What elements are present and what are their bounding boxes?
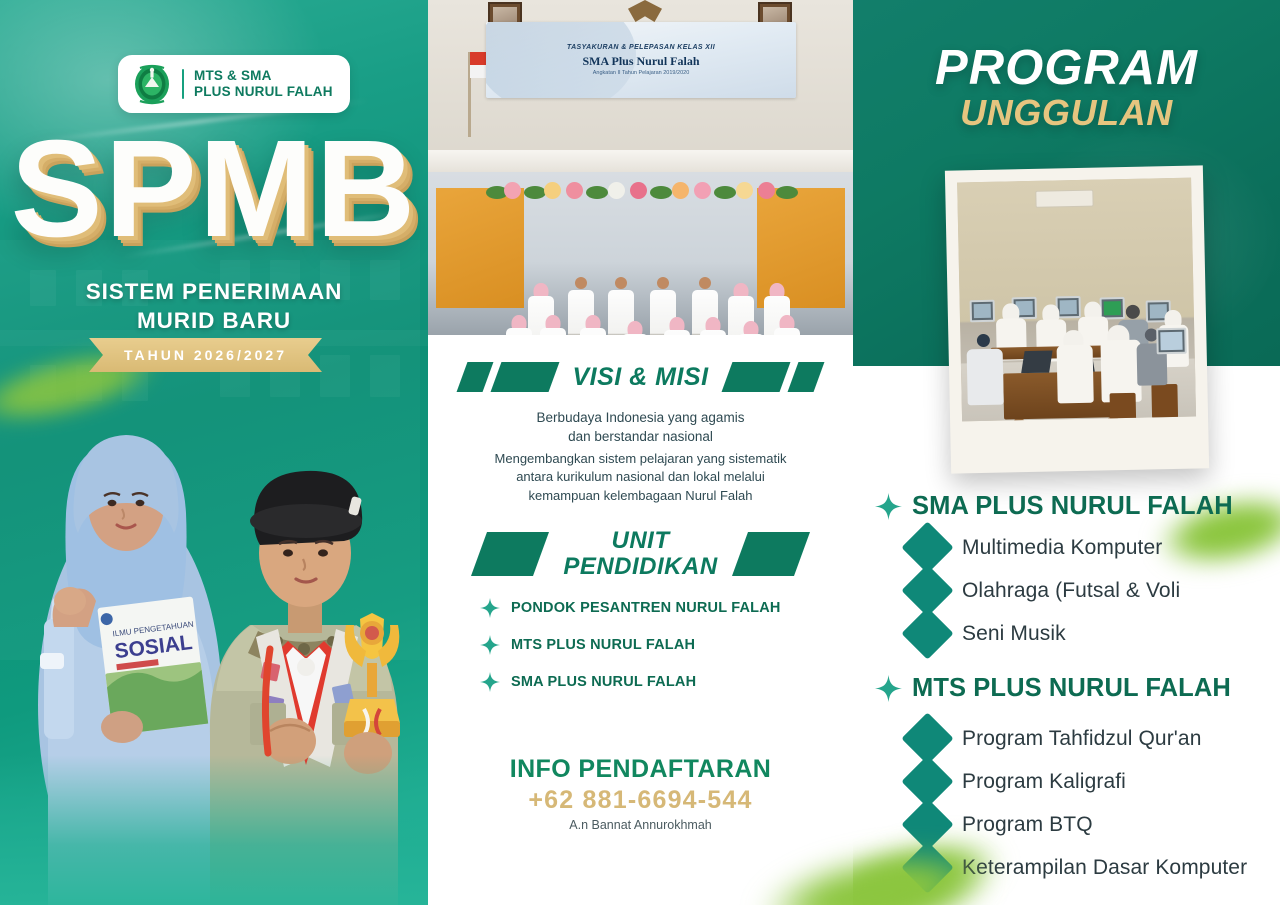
program-label: Program Tahfidzul Qur'an — [962, 727, 1201, 751]
unit-pendidikan-title: UNIT PENDIDIKAN — [563, 528, 717, 580]
unit-title-line-1: UNIT — [563, 528, 717, 554]
banner-line-3: Angkatan II Tahun Pelajaran 2019/2020 — [486, 70, 796, 76]
program-heading-line-2: UNGGULAN — [853, 92, 1280, 134]
misi-line-3: kemampuan kelembagaan Nurul Falah — [450, 487, 831, 505]
computer-lab-polaroid — [945, 165, 1209, 473]
decor-parallelogram — [471, 532, 549, 576]
graduation-banner: TASYAKURAN & PELEPASAN KELAS XII SMA Plu… — [486, 22, 796, 98]
spmb-subtitle: SISTEM PENERIMAAN MURID BARU — [0, 278, 428, 336]
decor-parallelogram — [787, 362, 824, 392]
list-item[interactable]: Program BTQ — [853, 806, 1280, 843]
sparkle-icon — [480, 598, 500, 618]
visi-text: Berbudaya Indonesia yang agamis dan bers… — [450, 408, 831, 446]
misi-line-1: Mengembangkan sistem pelajaran yang sist… — [450, 450, 831, 468]
year-ribbon-label: TAHUN 2026/2027 — [124, 347, 287, 363]
computer-lab-photo — [957, 178, 1196, 422]
sparkle-icon — [480, 672, 500, 692]
decor-parallelogram — [491, 362, 560, 392]
info-heading: INFO PENDAFTARAN — [428, 755, 853, 784]
right-column: PROGRAM UNGGULAN — [853, 0, 1280, 905]
logo-line-2: PLUS NURUL FALAH — [194, 84, 333, 100]
program-label: Seni Musik — [962, 622, 1066, 646]
school-heading-mts: MTS PLUS NURUL FALAH — [875, 674, 1231, 703]
info-phone[interactable]: +62 881-6694-544 — [428, 786, 853, 815]
diamond-bullet-icon — [901, 607, 953, 659]
misi-text: Mengembangkan sistem pelajaran yang sist… — [450, 450, 831, 505]
list-item-label: PONDOK PESANTREN NURUL FALAH — [511, 600, 781, 616]
list-item[interactable]: PONDOK PESANTREN NURUL FALAH — [428, 598, 853, 618]
program-label: Program Kaligrafi — [962, 770, 1126, 794]
program-list-sma: Multimedia Komputer Olahraga (Futsal & V… — [853, 529, 1280, 658]
visi-line-2: dan berstandar nasional — [450, 427, 831, 446]
info-contact-person: A.n Bannat Annurokhmah — [428, 818, 853, 832]
misi-line-2: antara kurikulum nasional dan lokal mela… — [450, 468, 831, 486]
banner-line-1: TASYAKURAN & PELEPASAN KELAS XII — [486, 44, 796, 51]
visi-misi-heading: VISI & MISI — [428, 362, 853, 392]
logo-text: MTS & SMA PLUS NURUL FALAH — [194, 68, 333, 101]
staff-group-photo — [428, 172, 853, 335]
school-crest-icon — [132, 63, 172, 105]
list-item[interactable]: SMA PLUS NURUL FALAH — [428, 672, 853, 692]
sparkle-icon — [875, 493, 902, 520]
logo-divider — [182, 69, 184, 99]
photo-fade — [0, 755, 428, 905]
unit-pendidikan-heading: UNIT PENDIDIKAN — [428, 528, 853, 580]
decor-parallelogram — [457, 362, 494, 392]
spmb-acronym: SPMB — [0, 120, 428, 258]
list-item[interactable]: Seni Musik — [853, 615, 1280, 652]
subtitle-line-2: MURID BARU — [0, 307, 428, 336]
list-item-label: MTS PLUS NURUL FALAH — [511, 637, 695, 653]
list-item[interactable]: Program Kaligrafi — [853, 763, 1280, 800]
info-pendaftaran: INFO PENDAFTARAN +62 881-6694-544 A.n Ba… — [428, 755, 853, 832]
sparkle-icon — [480, 635, 500, 655]
students-photo: ILMU PENGETAHUAN SOSIAL — [0, 385, 428, 905]
school-name: MTS PLUS NURUL FALAH — [912, 674, 1231, 703]
list-item[interactable]: Olahraga (Futsal & Voli — [853, 572, 1280, 609]
program-label: Olahraga (Futsal & Voli — [962, 579, 1180, 603]
subtitle-line-1: SISTEM PENERIMAAN — [0, 278, 428, 307]
list-item[interactable]: Program Tahfidzul Qur'an — [853, 720, 1280, 757]
list-item-label: SMA PLUS NURUL FALAH — [511, 674, 696, 690]
banner-line-2: SMA Plus Nurul Falah — [486, 54, 796, 69]
sparkle-icon — [875, 675, 902, 702]
visi-misi-title: VISI & MISI — [572, 363, 708, 392]
program-label: Multimedia Komputer — [962, 536, 1162, 560]
school-logo-badge: MTS & SMA PLUS NURUL FALAH — [118, 55, 350, 113]
program-heading-line-1: PROGRAM — [853, 40, 1280, 96]
decor-parallelogram — [721, 362, 790, 392]
school-heading-sma: SMA PLUS NURUL FALAH — [875, 492, 1233, 521]
unit-pendidikan-list: PONDOK PESANTREN NURUL FALAH MTS PLUS NU… — [428, 598, 853, 709]
decor-parallelogram — [732, 532, 810, 576]
list-item[interactable]: Multimedia Komputer — [853, 529, 1280, 566]
program-label: Keterampilan Dasar Komputer — [962, 856, 1247, 880]
year-ribbon: TAHUN 2026/2027 — [89, 338, 322, 372]
list-item[interactable]: MTS PLUS NURUL FALAH — [428, 635, 853, 655]
poster-root: MTS & SMA PLUS NURUL FALAH SPMB SISTEM P… — [0, 0, 1280, 905]
unit-title-line-2: PENDIDIKAN — [563, 554, 717, 580]
center-column: TASYAKURAN & PELEPASAN KELAS XII SMA Plu… — [428, 0, 853, 905]
graduation-photo: TASYAKURAN & PELEPASAN KELAS XII SMA Plu… — [428, 0, 853, 172]
air-conditioner — [1035, 190, 1093, 208]
visi-line-1: Berbudaya Indonesia yang agamis — [450, 408, 831, 427]
school-name: SMA PLUS NURUL FALAH — [912, 492, 1233, 521]
program-label: Program BTQ — [962, 813, 1093, 837]
left-panel: MTS & SMA PLUS NURUL FALAH SPMB SISTEM P… — [0, 0, 428, 905]
logo-line-1: MTS & SMA — [194, 68, 333, 84]
